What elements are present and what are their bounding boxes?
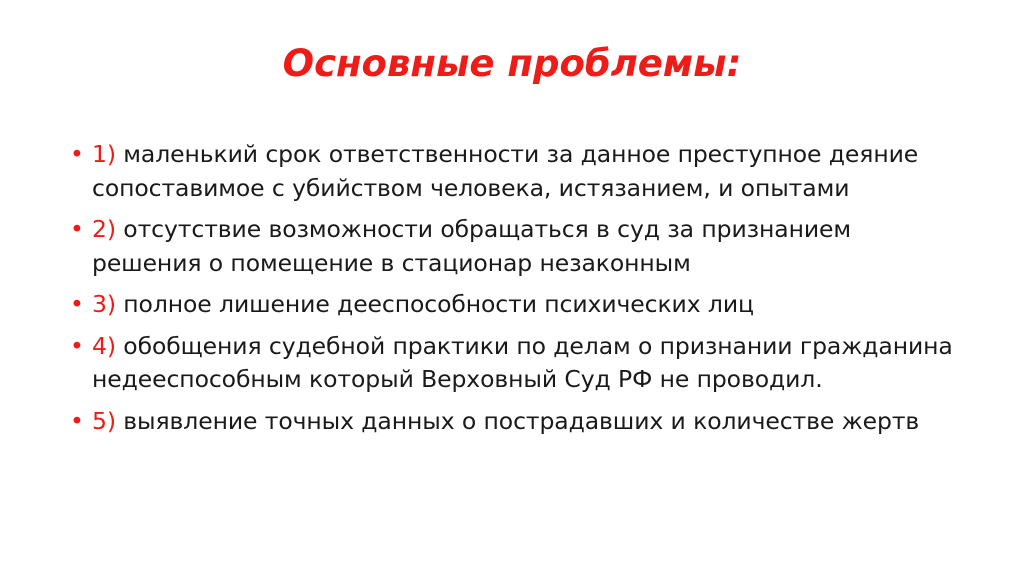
list-item-text: обобщения судебной практики по делам о п… xyxy=(92,332,953,394)
bullet-dot-icon: • xyxy=(70,138,88,172)
list-item: •3) полное лишение дееспособности психич… xyxy=(62,288,962,322)
problems-bullet-list: •1) маленький срок ответственности за да… xyxy=(62,138,962,438)
list-item-number: 1) xyxy=(92,140,116,168)
bullet-dot-icon: • xyxy=(70,405,88,439)
list-item-number: 2) xyxy=(92,215,116,243)
list-item-number: 5) xyxy=(92,407,116,435)
list-item-number: 3) xyxy=(92,290,116,318)
list-item: •2) отсутствие возможности обращаться в … xyxy=(62,213,962,280)
bullet-dot-icon: • xyxy=(70,330,88,364)
list-item-text: маленький срок ответственности за данное… xyxy=(92,140,918,202)
list-item-text: отсутствие возможности обращаться в суд … xyxy=(92,215,851,277)
presentation-slide: Основные проблемы: •1) маленький срок от… xyxy=(0,0,1024,574)
bullet-dot-icon: • xyxy=(70,288,88,322)
bullet-dot-icon: • xyxy=(70,213,88,247)
slide-title: Основные проблемы: xyxy=(0,42,1024,86)
list-item-number: 4) xyxy=(92,332,116,360)
list-item-text: полное лишение дееспособности психически… xyxy=(116,290,754,318)
list-item: •4) обобщения судебной практики по делам… xyxy=(62,330,962,397)
list-item-text: выявление точных данных о пострадавших и… xyxy=(116,407,919,435)
list-item: •1) маленький срок ответственности за да… xyxy=(62,138,962,205)
list-item: •5) выявление точных данных о пострадавш… xyxy=(62,405,962,439)
